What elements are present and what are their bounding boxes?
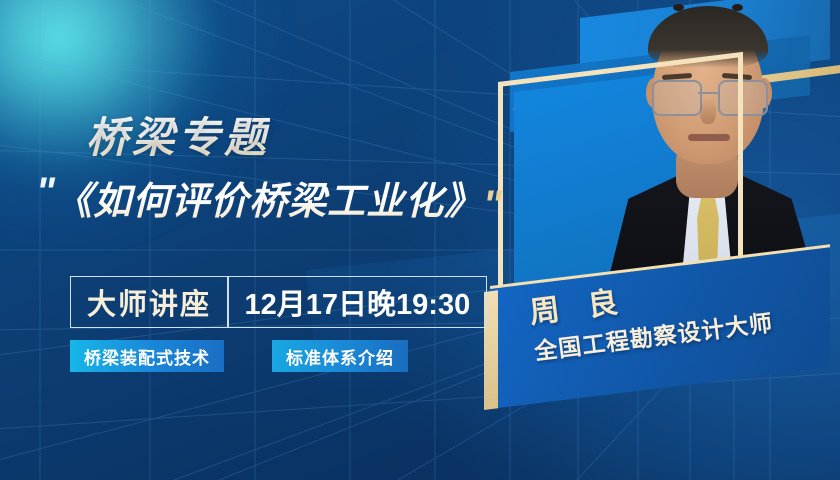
info-bar: 大师讲座 12月17日晚19:30 bbox=[70, 276, 487, 328]
subtitle: 《如何评价桥梁工业化》 bbox=[54, 170, 483, 225]
subtitle-row: " 《如何评价桥梁工业化》 " bbox=[36, 170, 499, 225]
quote-open-icon: " bbox=[36, 172, 52, 212]
quote-close-icon: " bbox=[483, 185, 499, 225]
page-title: 桥梁专题 bbox=[86, 104, 270, 165]
tag-item[interactable]: 桥梁装配式技术 bbox=[70, 340, 224, 372]
promo-banner: 周 良 全国工程勘察设计大师 桥梁专题 " 《如何评价桥梁工业化》 " 大师讲座… bbox=[0, 0, 840, 480]
lecture-datetime: 12月17日晚19:30 bbox=[229, 277, 487, 327]
speaker-composition: 周 良 全国工程勘察设计大师 bbox=[470, 0, 840, 480]
topic-tags: 桥梁装配式技术 标准体系介绍 bbox=[70, 340, 408, 372]
lecture-label: 大师讲座 bbox=[71, 277, 227, 327]
tag-item[interactable]: 标准体系介绍 bbox=[272, 340, 408, 372]
